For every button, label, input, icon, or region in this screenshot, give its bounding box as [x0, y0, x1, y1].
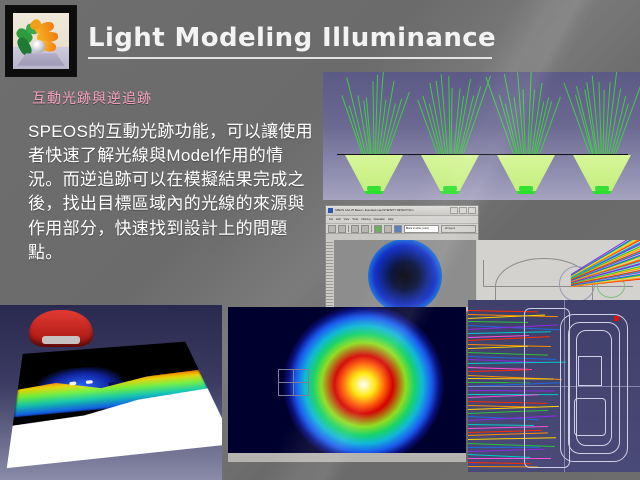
axis-marker-vertical: [564, 300, 565, 472]
reflector-cup: [345, 155, 403, 194]
page-title: Light Modeling Illuminance: [88, 24, 518, 53]
logo-sphere: [32, 40, 45, 53]
menu-item-edit[interactable]: Edit: [336, 218, 340, 221]
figure-interactive-ray-trace: [323, 72, 640, 200]
slide-title-block: Light Modeling Illuminance: [88, 24, 518, 59]
fit-icon[interactable]: [361, 225, 369, 233]
logo-artwork: [13, 13, 69, 69]
menu-item-help[interactable]: Help: [388, 218, 393, 221]
headlight-hotspot: [85, 380, 92, 384]
selection-grid-box[interactable]: [278, 369, 309, 396]
toolbar-separator: [348, 225, 349, 232]
traced-ray: [468, 346, 528, 349]
zoom-icon[interactable]: [351, 225, 359, 233]
viewer-status-bar: [228, 453, 466, 462]
palette-icon[interactable]: [394, 225, 402, 233]
wireframe-detail-2: [574, 398, 606, 436]
false-color-field: [228, 307, 466, 462]
lamp-outline-left: [483, 260, 484, 287]
toolbar-separator: [371, 225, 372, 232]
menu-item-view[interactable]: View: [344, 218, 350, 221]
maximize-button[interactable]: [459, 207, 467, 214]
axis-marker-horizontal: [468, 386, 640, 387]
traced-ray: [468, 462, 531, 464]
reflector-cup: [421, 155, 479, 194]
figure-headlamp-wireframe: [468, 300, 640, 472]
title-underline: [88, 57, 492, 59]
measure-icon[interactable]: [384, 225, 392, 233]
colormap-select[interactable]: Black to white (color): [404, 225, 439, 233]
minimize-button[interactable]: [450, 207, 458, 214]
headlight-hotspot: [69, 381, 76, 385]
layer-select[interactable]: All layers: [441, 225, 476, 233]
traced-ray: [468, 321, 528, 323]
window-title-bar[interactable]: SPEOS CAA V5 Based - Extended map INTENS…: [326, 206, 478, 216]
figure-lamp-section-trace: [477, 240, 640, 306]
grid-icon[interactable]: [374, 225, 382, 233]
speos-application-window[interactable]: SPEOS CAA V5 Based - Extended map INTENS…: [325, 205, 479, 312]
window-title-text: SPEOS CAA V5 Based - Extended map INTENS…: [335, 209, 450, 212]
traced-ray: [468, 369, 530, 372]
detector-canvas[interactable]: [334, 240, 476, 309]
presentation-slide: Light Modeling Illuminance 互動光跡與逆追跡 SPEO…: [0, 0, 640, 480]
intensity-detector-plot: [368, 240, 442, 309]
open-icon[interactable]: [328, 225, 336, 233]
slide-body-text: SPEOS的互動光跡功能，可以讓使用者快速了解光線與Model作用的情況。而逆追…: [28, 120, 313, 265]
road-surface-plot: [7, 342, 222, 469]
app-icon: [328, 208, 333, 213]
close-button[interactable]: [468, 207, 476, 214]
reflector-cup: [497, 155, 555, 194]
figure-road-illuminance: [0, 305, 222, 480]
save-icon[interactable]: [338, 225, 346, 233]
menu-item-operation[interactable]: Operation: [374, 218, 385, 221]
menu-item-tools[interactable]: Tools: [352, 218, 358, 221]
grid-line-v: [293, 370, 294, 395]
menu-item-filtering[interactable]: Filtering: [361, 218, 370, 221]
wireframe-detail-1: [578, 356, 602, 386]
toolbar[interactable]: Black to white (color) All layers: [326, 224, 478, 234]
window-controls[interactable]: [450, 207, 476, 214]
vehicle-model: [29, 310, 93, 347]
reflector-cup: [573, 155, 631, 194]
slide-subtitle: 互動光跡與逆追跡: [32, 88, 152, 108]
speos-logo: [5, 5, 77, 77]
menu-bar[interactable]: File Edit View Tools Filtering Operation…: [326, 216, 478, 224]
menu-item-file[interactable]: File: [329, 218, 333, 221]
figure-beam-false-color-map: [228, 307, 466, 462]
selection-marker: [614, 316, 619, 321]
vertical-ruler: [326, 240, 333, 309]
